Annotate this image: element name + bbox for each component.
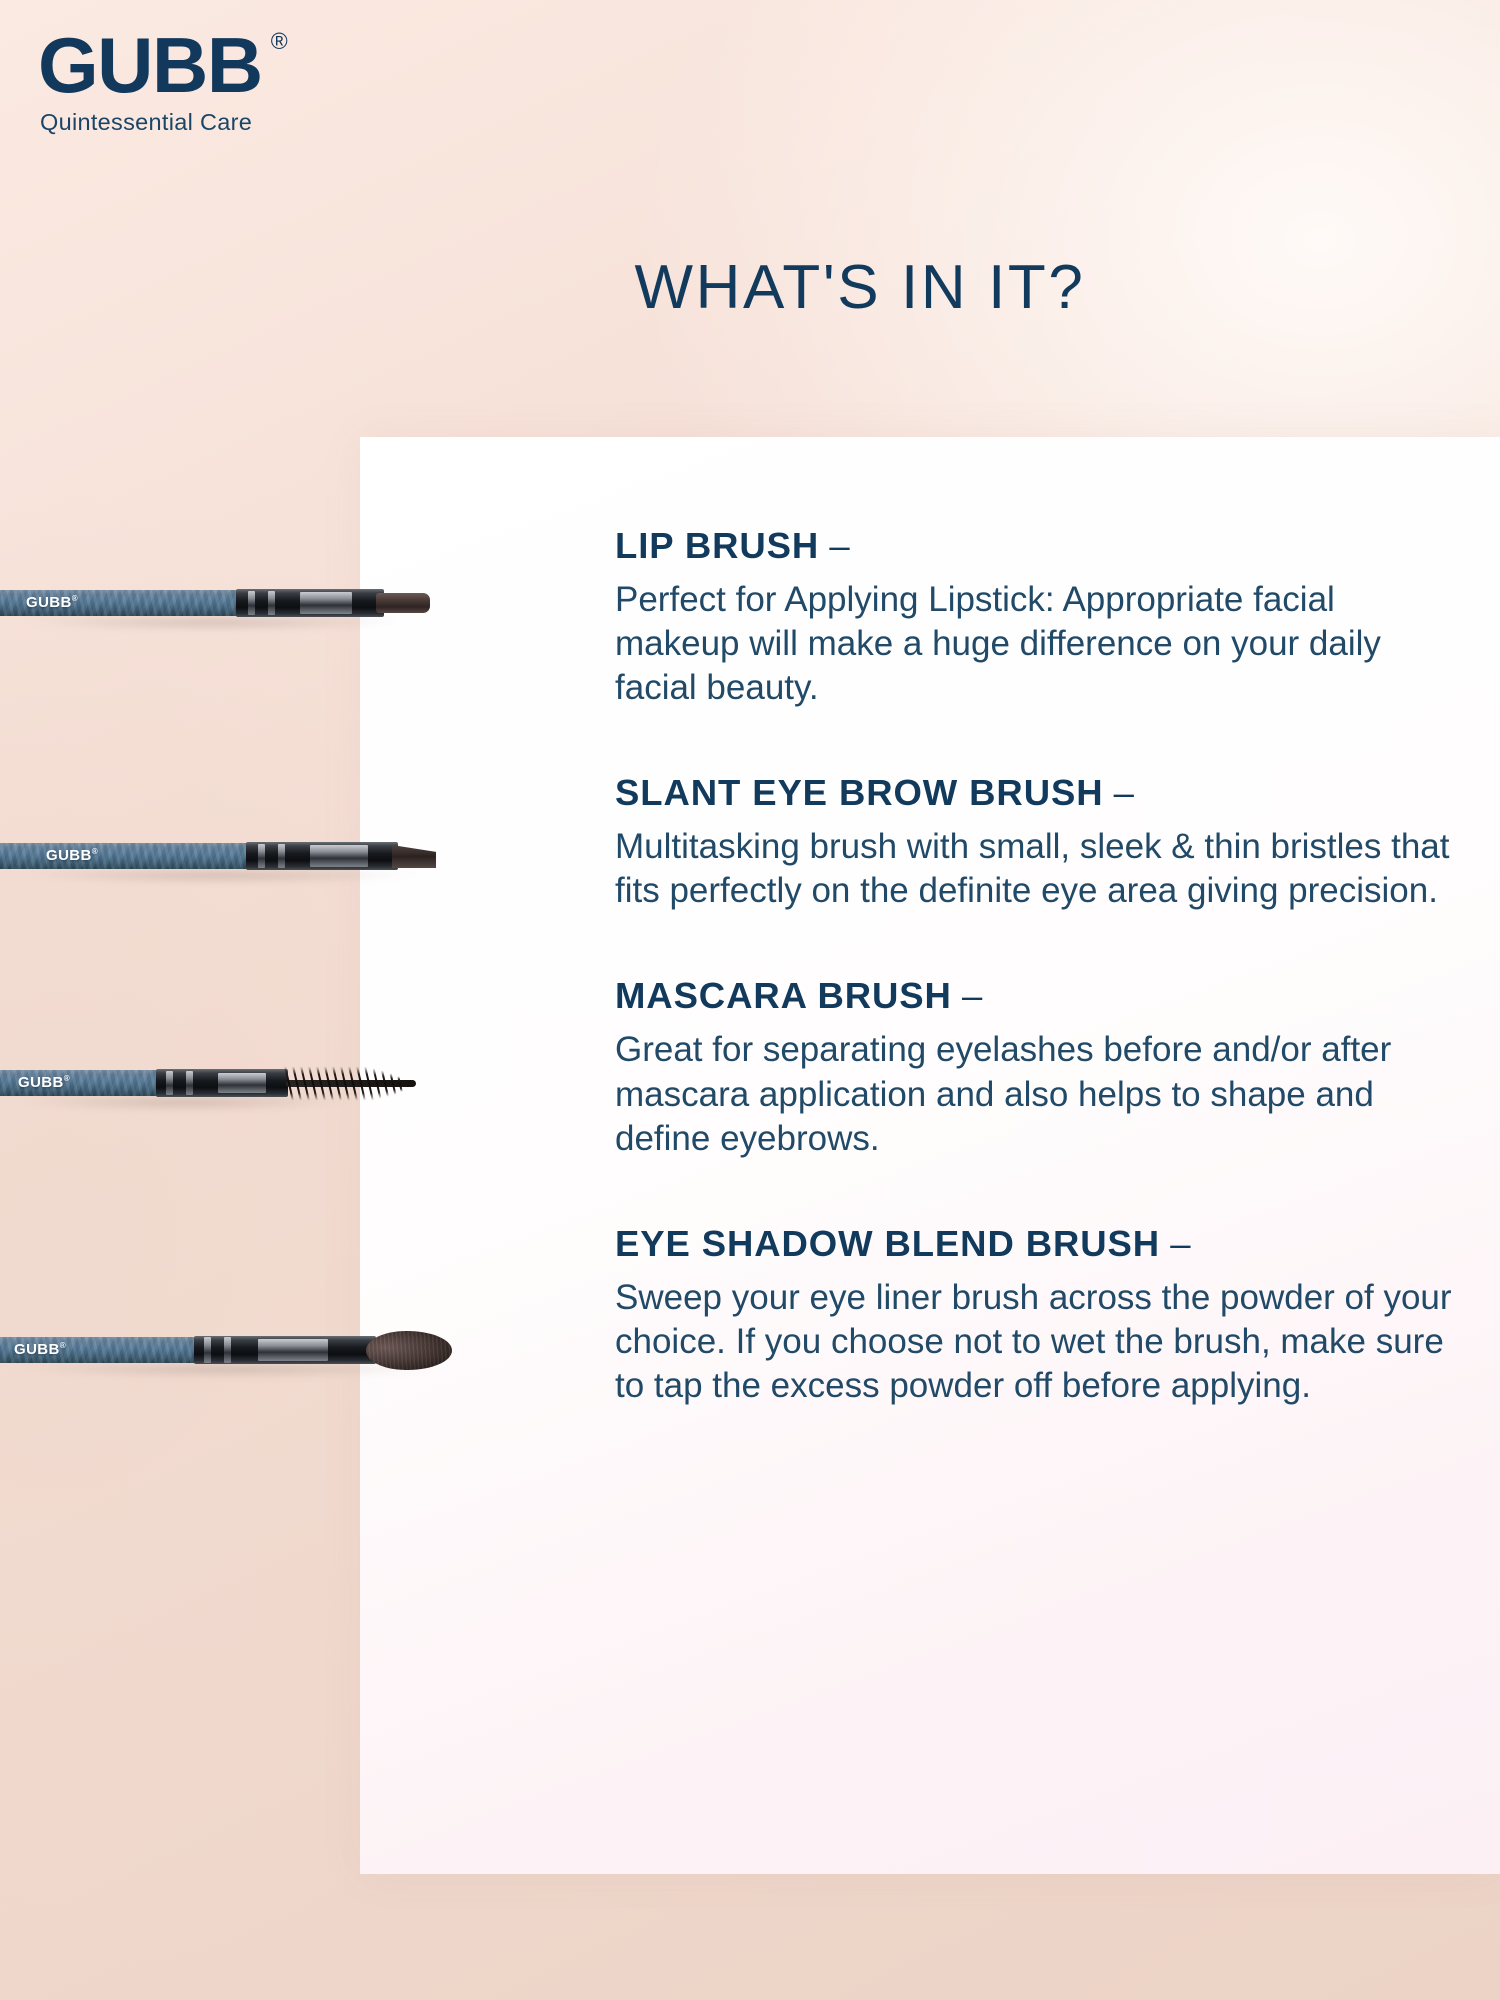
ferrule-band [218,1073,266,1093]
section-title: SLANT EYE BROW BRUSH – [615,772,1460,814]
brush-description-list: LIP BRUSH – Perfect for Applying Lipstic… [615,525,1460,1408]
section-body: Sweep your eye liner brush across the po… [615,1276,1460,1408]
brush-shadow [20,619,410,630]
ferrule-band [258,1339,328,1361]
slant-brow-brush-tip [392,845,436,868]
lip-brush-tip [376,593,430,613]
lip-brush-illustration: GUBB® [0,583,530,623]
section-lip-brush: LIP BRUSH – Perfect for Applying Lipstic… [615,525,1460,710]
ferrule-ring [166,1071,173,1095]
brand-logo: GUBB ® Quintessential Care [38,28,338,136]
ferrule-ring [248,591,255,615]
section-body: Multitasking brush with small, sleek & t… [615,825,1460,913]
brand-name: GUBB ® [38,28,262,103]
ferrule-ring [186,1071,193,1095]
mascara-brush-illustration: GUBB® [0,1063,570,1103]
page-title: WHAT'S IN IT? [360,252,1360,323]
handle-brand-label: GUBB® [26,594,78,611]
handle-brand-label: GUBB® [18,1074,70,1091]
section-body: Perfect for Applying Lipstick: Appropria… [615,578,1460,710]
eye-shadow-blend-brush-illustration: GUBB® [0,1330,550,1370]
registered-trademark-icon: ® [271,30,288,52]
brand-name-text: GUBB [38,21,262,109]
ferrule-ring [278,844,285,868]
section-title: LIP BRUSH – [615,525,1460,567]
section-title: EYE SHADOW BLEND BRUSH – [615,1223,1460,1265]
handle-brand-label: GUBB® [46,847,98,864]
ferrule-band [300,592,352,614]
product-infographic-poster: GUBB ® Quintessential Care WHAT'S IN IT?… [0,0,1500,2000]
section-mascara-brush: MASCARA BRUSH – Great for separating eye… [615,975,1460,1160]
blend-brush-tip [366,1331,452,1370]
ferrule-ring [268,591,275,615]
section-title: MASCARA BRUSH – [615,975,1460,1017]
handle-brand-label: GUBB® [14,1341,66,1358]
ferrule-ring [258,844,265,868]
section-slant-eye-brow-brush: SLANT EYE BROW BRUSH – Multitasking brus… [615,772,1460,913]
section-eye-shadow-blend-brush: EYE SHADOW BLEND BRUSH – Sweep your eye … [615,1223,1460,1408]
brush-shadow [20,872,420,883]
section-body: Great for separating eyelashes before an… [615,1028,1460,1160]
ferrule-band [310,845,368,867]
slant-brow-brush-illustration: GUBB® [0,836,550,876]
brush-handle [0,843,252,869]
ferrule-ring [204,1337,211,1363]
ferrule-ring [224,1337,231,1363]
brush-shadow [20,1366,440,1377]
brand-tagline: Quintessential Care [40,109,338,136]
mascara-brush-tip [286,1065,416,1102]
